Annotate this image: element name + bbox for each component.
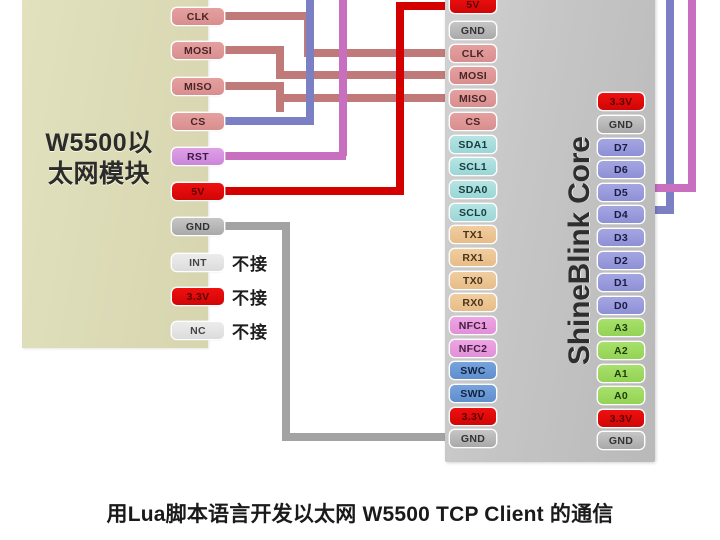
wire-5v-h1 — [222, 187, 404, 195]
pin-3v3[interactable]: 3.3V — [172, 288, 224, 305]
wire-clk-h3 — [304, 49, 456, 57]
board-title: ShineBlink Core — [563, 95, 603, 365]
note-nc-not-connected: 不接 — [232, 318, 268, 343]
note-int-not-connected: 不接 — [232, 250, 268, 275]
board-pin-clk[interactable]: CLK — [450, 45, 496, 62]
board-pin-a0[interactable]: A0 — [598, 387, 644, 404]
caption-text: 用Lua脚本语言开发以太网 W5500 TCP Client 的通信 — [0, 498, 720, 528]
wire-cs-h1 — [222, 117, 314, 125]
wire-cs-v2 — [666, 0, 674, 211]
board-pin-gnd-right-top[interactable]: GND — [598, 116, 644, 133]
board-pin-miso[interactable]: MISO — [450, 90, 496, 107]
board-pin-mosi[interactable]: MOSI — [450, 67, 496, 84]
wire-mosi-h1 — [222, 46, 284, 54]
wire-mosi-v — [276, 46, 284, 72]
board-pin-d1[interactable]: D1 — [598, 274, 644, 291]
pin-nc[interactable]: NC — [172, 322, 224, 339]
pin-rst[interactable]: RST — [172, 148, 224, 165]
diagram-canvas: W5500以 太网模块 CLK MOSI MISO CS RST 5V GND … — [0, 0, 720, 540]
pin-clk[interactable]: CLK — [172, 8, 224, 25]
board-pin-5v[interactable]: 5V — [450, 0, 496, 13]
board-pin-3v3-right-bottom[interactable]: 3.3V — [598, 410, 644, 427]
board-pin-cs[interactable]: CS — [450, 113, 496, 130]
board-pin-3v3-right-top[interactable]: 3.3V — [598, 93, 644, 110]
board-pin-d5[interactable]: D5 — [598, 184, 644, 201]
board-pin-d3[interactable]: D3 — [598, 229, 644, 246]
note-3v3-not-connected: 不接 — [232, 284, 268, 309]
board-pin-nfc1[interactable]: NFC1 — [450, 317, 496, 334]
wire-5v-v1 — [396, 2, 404, 192]
board-pin-d7[interactable]: D7 — [598, 139, 644, 156]
pin-gnd[interactable]: GND — [172, 218, 224, 235]
board-pin-swc[interactable]: SWC — [450, 362, 496, 379]
pin-5v[interactable]: 5V — [172, 183, 224, 200]
wire-gnd-h2 — [282, 433, 458, 441]
module-title: W5500以 太网模块 — [24, 128, 174, 189]
wire-gnd-h1 — [222, 222, 286, 230]
board-pin-nfc2[interactable]: NFC2 — [450, 340, 496, 357]
wire-miso-h2 — [276, 94, 456, 102]
board-pin-gnd-left[interactable]: GND — [450, 430, 496, 447]
wire-cs-v1 — [306, 0, 314, 121]
board-pin-d0[interactable]: D0 — [598, 297, 644, 314]
board-pin-tx1[interactable]: TX1 — [450, 226, 496, 243]
board-pin-sda1[interactable]: SDA1 — [450, 136, 496, 153]
module-title-line2: 太网模块 — [24, 159, 174, 190]
pin-cs[interactable]: CS — [172, 113, 224, 130]
pin-mosi[interactable]: MOSI — [172, 42, 224, 59]
board-pin-gnd-right-bottom[interactable]: GND — [598, 432, 644, 449]
wire-rst-h1 — [222, 152, 346, 160]
wire-rst-v2 — [688, 0, 696, 188]
board-pin-d4[interactable]: D4 — [598, 206, 644, 223]
pin-miso[interactable]: MISO — [172, 78, 224, 95]
board-pin-gnd-top[interactable]: GND — [450, 22, 496, 39]
wire-rst-v1 — [339, 0, 347, 156]
board-pin-3v3-left[interactable]: 3.3V — [450, 408, 496, 425]
module-title-line1: W5500以 — [24, 128, 174, 159]
board-pin-scl1[interactable]: SCL1 — [450, 158, 496, 175]
board-pin-rx1[interactable]: RX1 — [450, 249, 496, 266]
board-pin-scl0[interactable]: SCL0 — [450, 204, 496, 221]
board-pin-a3[interactable]: A3 — [598, 319, 644, 336]
board-pin-a2[interactable]: A2 — [598, 342, 644, 359]
board-pin-swd[interactable]: SWD — [450, 385, 496, 402]
board-pin-a1[interactable]: A1 — [598, 365, 644, 382]
board-pin-tx0[interactable]: TX0 — [450, 272, 496, 289]
wire-miso-h1 — [222, 82, 284, 90]
board-pin-rx0[interactable]: RX0 — [450, 294, 496, 311]
board-pin-d2[interactable]: D2 — [598, 252, 644, 269]
wire-mosi-h2 — [276, 71, 456, 79]
wire-clk-h1 — [222, 12, 312, 20]
pin-int[interactable]: INT — [172, 254, 224, 271]
board-pin-d6[interactable]: D6 — [598, 161, 644, 178]
wire-gnd-v — [282, 222, 290, 437]
board-pin-sda0[interactable]: SDA0 — [450, 181, 496, 198]
